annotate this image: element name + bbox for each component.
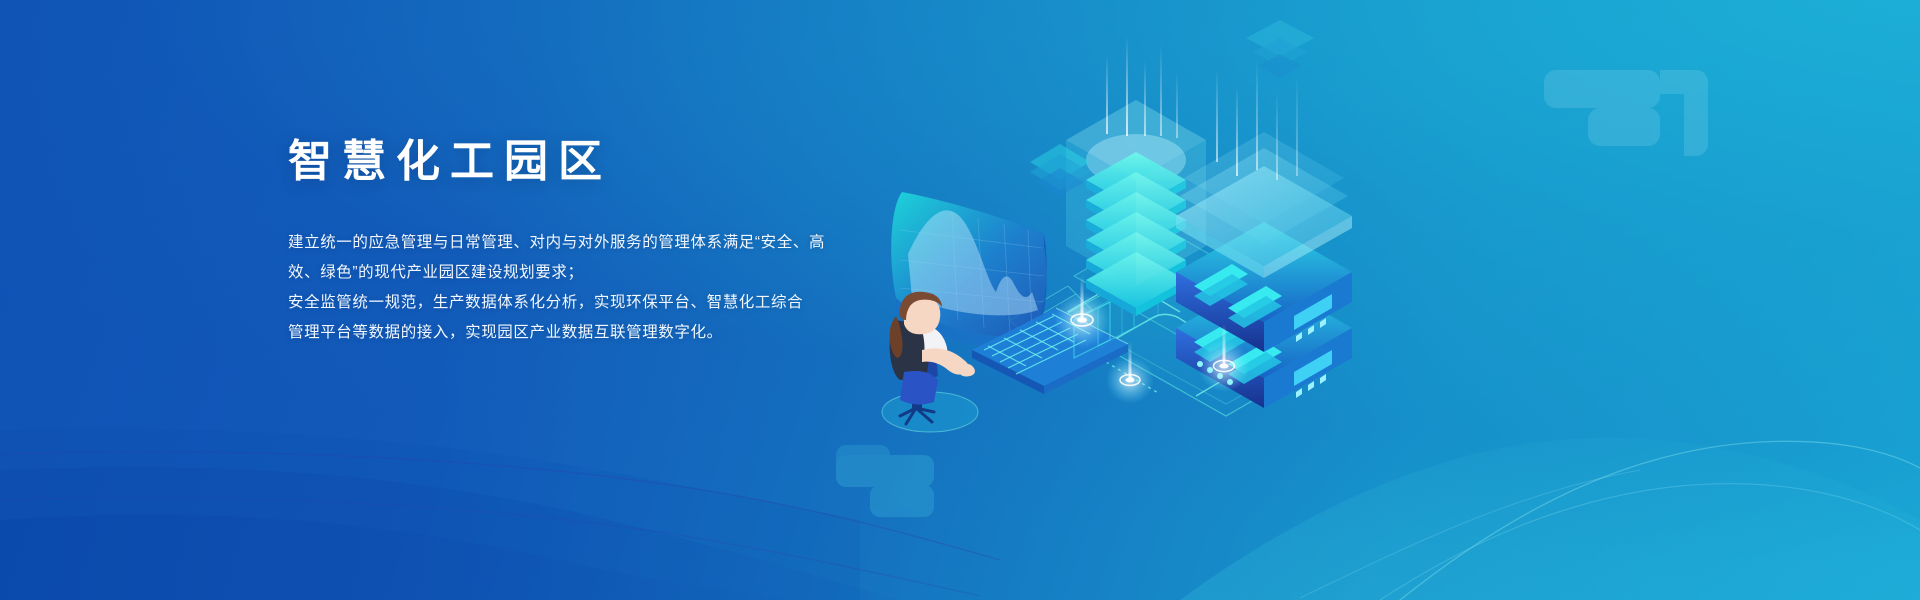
ribbon-shapes-topright [1544, 70, 1708, 156]
wave-line-right-c [1300, 470, 1640, 598]
page-title: 智慧化工园区 [288, 140, 908, 184]
wave-left-lower [0, 467, 900, 600]
wave-line-left-b [0, 498, 980, 596]
description-line-3: 安全监管统一规范，生产数据体系化分析，实现环保平台、智慧化工综合 [288, 288, 908, 318]
person-hand [958, 364, 975, 377]
hero-description: 建立统一的应急管理与日常管理、对内与对外服务的管理体系满足“安全、高 效、绿色”… [288, 228, 908, 348]
wave-left-lowest [0, 515, 820, 600]
description-line-2: 效、绿色”的现代产业园区建设规划要求； [288, 258, 908, 288]
wave-line-right-b [1380, 484, 1920, 600]
description-line-4: 管理平台等数据的接入，实现园区产业数据互联管理数字化。 [288, 318, 908, 348]
wave-left-upper [0, 429, 860, 600]
hero-banner: 智慧化工园区 建立统一的应急管理与日常管理、对内与对外服务的管理体系满足“安全、… [0, 0, 1920, 600]
wave-line-right-a [1400, 441, 1920, 600]
wave-right-mass [1180, 438, 1920, 600]
description-line-1: 建立统一的应急管理与日常管理、对内与对外服务的管理体系满足“安全、高 [288, 228, 908, 258]
wave-line-left-a [0, 452, 1000, 560]
hero-copy: 智慧化工园区 建立统一的应急管理与日常管理、对内与对外服务的管理体系满足“安全、… [288, 140, 908, 348]
hero-illustration [860, 20, 1420, 460]
person-skirt [900, 371, 938, 405]
